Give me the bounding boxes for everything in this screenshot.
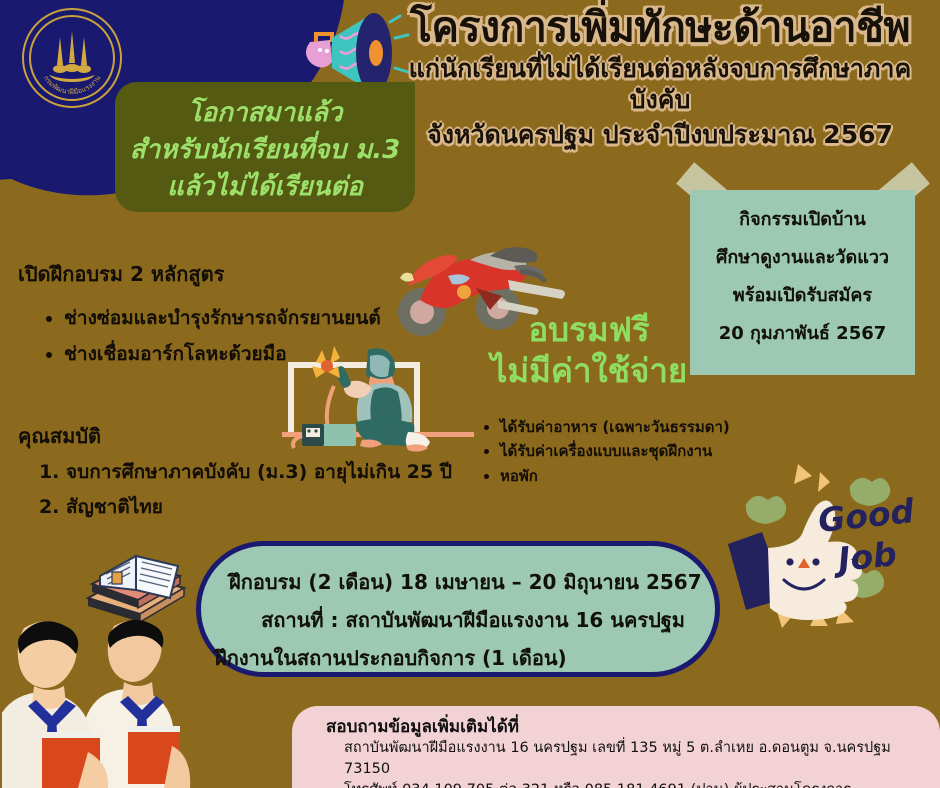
good-job-word-2: Job [836,534,898,579]
agency-logo: กรมพัฒนาฝีมือแรงงาน [22,8,122,108]
list-item: สัญชาติไทย [66,490,452,525]
contact-address: สถาบันพัฒนาฝีมือแรงงาน 16 นครปฐม เลขที่ … [326,738,940,780]
qualifications-list: จบการศึกษาภาคบังคับ (ม.3) อายุไม่เกิน 25… [34,455,452,525]
free-training-block: อบรมฟรี ไม่มีค่าใช้จ่าย [455,312,723,391]
list-item: ได้รับค่าอาหาร (เฉพาะวันธรรมดา) [500,415,730,439]
schedule-line-1: ฝึกอบรม (2 เดือน) 18 เมษายน – 20 มิถุนาย… [229,566,702,598]
free-training-line1: อบรมฟรี [455,312,723,348]
note-line-1: กิจกรรมเปิดบ้าน [690,204,915,233]
list-item: ช่างซ่อมและบำรุงรักษารถจักรยานยนต์ [64,300,381,336]
callout-line-1: โอกาสมาแล้ว [115,92,415,133]
thumbs-up-illustration [728,458,940,640]
contact-footer: สอบถามข้อมูลเพิ่มเติมได้ที่ สถาบันพัฒนาฝ… [292,706,940,788]
svg-text:กรมพัฒนาฝีมือแรงงาน: กรมพัฒนาฝีมือแรงงาน [42,74,103,96]
list-item: หอพัก [500,464,730,488]
callout-line-3: แล้วไม่ได้เรียนต่อ [115,166,415,207]
welder-illustration [282,332,474,460]
logo-agency-name: กรมพัฒนาฝีมือแรงงาน [42,74,103,96]
list-item: ได้รับค่าเครื่องแบบและชุดฝึกงาน [500,439,730,463]
schedule-box: ฝึกอบรม (2 เดือน) 18 เมษายน – 20 มิถุนาย… [196,541,720,677]
students-illustration [2,606,198,788]
free-training-line2: ไม่มีค่าใช้จ่าย [455,351,723,391]
open-house-note: กิจกรรมเปิดบ้าน ศึกษาดูงานและวัดแวว พร้อ… [690,190,915,375]
contact-phone: โทรศัพท์ 034 109 705 ต่อ 321 หรือ 085 18… [326,780,940,788]
poster-root: กรมพัฒนาฝีมือแรงงาน โครงการเพิ่มทักษะด้ [0,0,940,788]
contact-heading: สอบถามข้อมูลเพิ่มเติมได้ที่ [326,716,940,738]
page-title: โครงการเพิ่มทักษะด้านอาชีพ [386,6,934,49]
list-item: จบการศึกษาภาคบังคับ (ม.3) อายุไม่เกิน 25… [66,455,452,490]
note-line-3: พร้อมเปิดรับสมัคร [690,280,915,309]
courses-heading: เปิดฝึกอบรม 2 หลักสูตร [18,258,224,290]
page-subtitle-line1: แก่นักเรียนที่ไม่ได้เรียนต่อหลังจบการศึก… [386,54,934,115]
qualifications-heading: คุณสมบัติ [18,420,101,452]
schedule-line-3: ฝึกงานในสถานประกอบกิจการ (1 เดือน) [215,642,567,674]
page-subtitle-line2: จังหวัดนครปฐม ประจำปีงบประมาณ 2567 [386,120,934,151]
opportunity-callout: โอกาสมาแล้ว สำหรับนักเรียนที่จบ ม.3 แล้ว… [115,82,415,212]
header-block: โครงการเพิ่มทักษะด้านอาชีพ แก่นักเรียนที… [386,6,934,151]
note-line-4: 20 กุมภาพันธ์ 2567 [690,318,915,347]
callout-line-2: สำหรับนักเรียนที่จบ ม.3 [115,129,415,170]
schedule-line-2: สถานที่ : สถาบันพัฒนาฝีมือแรงงาน 16 นครป… [261,604,685,636]
benefits-list: ได้รับค่าอาหาร (เฉพาะวันธรรมดา) ได้รับค่… [470,415,730,488]
note-line-2: ศึกษาดูงานและวัดแวว [690,242,915,271]
